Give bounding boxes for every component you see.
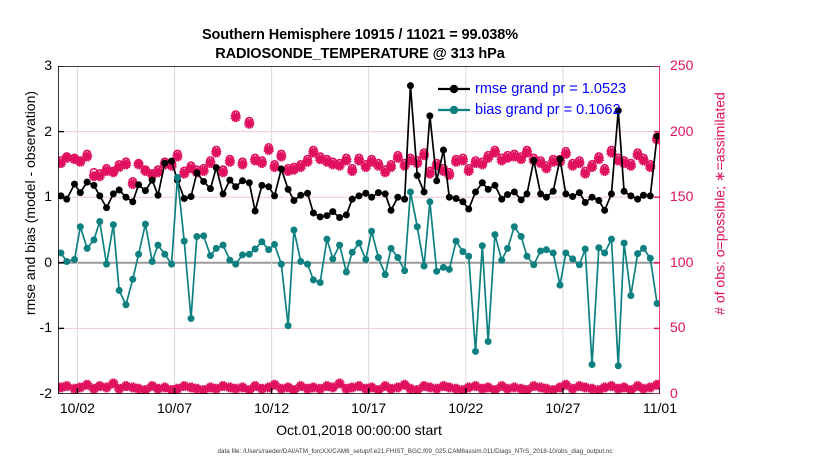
series-point [634,250,641,257]
series-point [71,181,78,188]
y-tick-label-right: 100 [670,254,716,270]
series-point [485,338,492,345]
series-point [421,263,428,270]
series-point [188,315,195,322]
series-point [530,157,537,164]
series-point [297,192,304,199]
series-point [142,221,149,228]
series-point [220,242,227,249]
series-point [601,207,608,214]
series-point [232,183,239,190]
x-tick-label: 10/02 [42,400,112,416]
series-point [336,242,343,249]
obs-assimilated-marker [588,163,596,171]
series-point [446,194,453,201]
series-point [394,194,401,201]
series-point [356,240,363,247]
series-point [181,195,188,202]
series-point [265,246,272,253]
obs-assimilated-marker [134,160,142,168]
series-point [271,192,278,199]
series-point [498,257,505,264]
series-point [627,292,634,299]
series-point [135,181,142,188]
obs-assimilated-marker [238,160,246,168]
series-point [465,206,472,213]
x-axis-label: Oct.01,2018 00:00:00 start [58,422,660,438]
legend-item-bias[interactable]: bias grand pr = 0.1062 [437,99,626,120]
obs-assimilated-marker [601,167,609,175]
series-point [407,82,414,89]
obs-assimilated-marker [653,381,660,389]
series-point [654,300,660,307]
series-point [174,174,181,181]
obs-assimilated-marker [335,379,343,387]
series-point [343,268,350,275]
series-point [265,183,272,190]
series-point [63,196,70,203]
obs-assimilated-marker [245,120,253,128]
y-tick-label-left: 0 [12,254,52,270]
y-tick-label-right: 50 [670,319,716,335]
x-tick-label: 11/01 [625,400,695,416]
series-point [479,179,486,186]
series-point [647,255,654,262]
series-point [401,267,408,274]
series-point [576,189,583,196]
series-point [63,258,70,265]
series-point [77,189,84,196]
series-point [200,232,207,239]
series-point [329,255,336,262]
series-point [285,322,292,329]
series-point [161,251,168,258]
series-point [96,192,103,199]
series-point [310,276,317,283]
legend-label-rmse: rmse grand pr = 1.0523 [475,81,626,97]
series-point [640,245,647,252]
obs-assimilated-marker [76,158,84,166]
series-point [446,266,453,273]
series-point [472,188,479,195]
series-point [582,246,589,253]
obs-assimilated-marker [303,158,311,166]
series-point [84,179,91,186]
x-tick-label: 10/27 [528,400,598,416]
obs-assimilated-marker [562,150,570,158]
series-point [556,282,563,289]
series-point [543,246,550,253]
series-point [258,238,265,245]
series-point [304,261,311,268]
series-point [168,158,175,165]
series-point [200,178,207,185]
series-point [220,190,227,197]
series-point [414,223,421,230]
series-point [71,256,78,263]
obs-assimilated-marker [484,154,492,162]
series-point [278,261,285,268]
series-point [627,192,634,199]
series-point [129,276,136,283]
series-point [440,146,447,153]
series-point [479,242,486,249]
series-point [382,271,389,278]
series-point [491,182,498,189]
series-point [323,236,330,243]
series-point [304,190,311,197]
series-point [407,188,414,195]
series-point [465,253,472,260]
series-point [523,190,530,197]
series-point [252,246,259,253]
obs-assimilated-marker [63,382,71,390]
legend-item-rmse[interactable]: rmse grand pr = 1.0523 [437,78,626,99]
x-tick-label: 10/12 [237,400,307,416]
obs-assimilated-marker [212,148,220,156]
series-point [640,192,647,199]
series-point [433,177,440,184]
series-point [116,186,123,193]
series-point [382,190,389,197]
series-point [459,198,466,205]
series-point [181,238,188,245]
series-point [310,209,317,216]
series-point [608,190,615,197]
obs-assimilated-marker [232,113,240,121]
series-point [621,240,628,247]
obs-assimilated-marker [270,163,278,171]
obs-assimilated-marker [219,168,227,176]
obs-assimilated-marker [342,156,350,164]
y-tick-label-left: 1 [12,188,52,204]
series-point [239,177,246,184]
data-file-footer: data file: /Users/raeder/DAI/ATM_forcXX/… [0,448,830,455]
series-point [556,156,563,163]
series-point [232,261,239,268]
series-point [414,172,421,179]
series-point [317,213,324,220]
chart-page: Southern Hemisphere 10915 / 11021 = 99.0… [0,0,830,470]
obs-assimilated-marker [265,146,273,154]
obs-assimilated-marker [83,152,91,160]
series-point [595,197,602,204]
legend-label-bias: bias grand pr = 0.1062 [475,102,621,118]
series-point [343,211,350,218]
series-point [647,192,654,199]
series-point [615,362,622,369]
series-point [368,194,375,201]
obs-assimilated-marker [387,163,395,171]
series-point [193,169,200,176]
x-tick-label: 10/07 [140,400,210,416]
x-tick-label: 10/22 [431,400,501,416]
series-point [453,195,460,202]
series-point [453,238,460,245]
series-point [90,182,97,189]
series-point [582,199,589,206]
series-point [155,242,162,249]
series-point [569,193,576,200]
obs-assimilated-marker [575,159,583,167]
series-point [459,248,466,255]
series-point [530,261,537,268]
obs-assimilated-marker [394,154,402,162]
series-point [103,204,110,211]
series-point [226,177,233,184]
series-point [122,301,129,308]
legend-swatch-bias-icon [437,102,471,118]
series-point [589,361,596,368]
series-point [77,223,84,230]
series-point [226,257,233,264]
series-point [634,196,641,203]
series-point [278,165,285,172]
y-tick-label-left: 3 [12,57,52,73]
series-point [401,196,408,203]
series-point [349,249,356,256]
series-point [129,198,136,205]
obs-assimilated-marker [226,158,234,166]
y-tick-label-left: -1 [12,319,52,335]
series-point [246,251,253,258]
series-point [246,179,253,186]
series-point [252,207,259,214]
series-point [362,256,369,263]
series-point [290,227,297,234]
series-point [504,245,511,252]
obs-assimilated-marker [199,167,207,175]
series-point [349,196,356,203]
y-tick-label-right: 200 [670,123,716,139]
series-point [116,287,123,294]
series-point [110,190,117,197]
series-point [155,192,162,199]
y-tick-label-right: 150 [670,188,716,204]
page-title: Southern Hemisphere 10915 / 11021 = 99.0… [0,26,720,64]
series-point [323,212,330,219]
series-point [523,253,530,260]
series-point [595,244,602,251]
obs-assimilated-marker [542,164,550,172]
series-point [149,258,156,265]
obs-assimilated-marker [96,172,104,180]
series-point [550,249,557,256]
series-point [161,160,168,167]
series-point [207,252,214,259]
series-point [394,254,401,261]
legend: rmse grand pr = 1.0523 bias grand pr = 0… [437,78,626,120]
obs-assimilated-marker [180,169,188,177]
series-point [258,182,265,189]
obs-assimilated-marker [459,156,467,164]
series-point [362,190,369,197]
obs-assimilated-marker [277,152,285,160]
obs-assimilated-marker [258,159,266,167]
series-point [90,236,97,243]
y-tick-label-right: 250 [670,57,716,73]
series-point [589,194,596,201]
series-point [562,190,569,197]
title-line-1: Southern Hemisphere 10915 / 11021 = 99.0… [0,26,720,45]
series-point [569,255,576,262]
obs-assimilated-marker [122,160,130,168]
series-point [543,194,550,201]
obs-markers [58,111,660,394]
series-point [271,241,278,248]
obs-assimilated-marker [154,168,162,176]
series-point [213,164,220,171]
series-point [149,177,156,184]
series-point [239,251,246,258]
series-point [472,348,479,355]
series-point [110,221,117,228]
obs-assimilated-marker [348,167,356,175]
obs-assimilated-marker [595,155,603,163]
series-point [426,198,433,205]
obs-assimilated-marker [491,148,499,156]
series-point [213,245,220,252]
series-point [142,187,149,194]
title-line-2: RADIOSONDE_TEMPERATURE @ 313 hPa [0,45,720,64]
series-point [498,196,505,203]
series-point [285,186,292,193]
series-point [576,261,583,268]
series-point [426,112,433,119]
legend-swatch-rmse-icon [437,81,471,97]
series-point [504,191,511,198]
series-point [421,188,428,195]
obs-assimilated-marker [335,162,343,170]
series-line [61,178,657,366]
series-point [518,233,525,240]
series-point [356,192,363,199]
series-point [550,188,557,195]
y-tick-label-left: 2 [12,123,52,139]
series-point [122,194,129,201]
obs-assimilated-marker [426,169,434,177]
series-point [96,218,103,225]
series-point [168,261,175,268]
series-point [608,236,615,243]
series-point [368,228,375,235]
series-point [207,185,214,192]
y-tick-label-right: 0 [670,385,716,401]
y-tick-label-left: -2 [12,385,52,401]
series-point [511,223,518,230]
series-bias [58,174,660,369]
series-point [297,258,304,265]
series-point [188,193,195,200]
obs-assimilated-marker [627,162,635,170]
series-point [485,186,492,193]
series-point [511,188,518,195]
obs-assimilated-marker [523,148,531,156]
series-point [193,233,200,240]
series-point [84,245,91,252]
series-point [601,249,608,256]
obs-assimilated-marker [297,163,305,171]
x-tick-label: 10/17 [334,400,404,416]
obs-assimilated-marker [465,167,473,175]
obs-assimilated-marker [581,169,589,177]
series-point [388,207,395,214]
series-point [621,188,628,195]
series-point [290,197,297,204]
series-point [375,189,382,196]
series-point [433,268,440,275]
series-point [375,254,382,261]
series-point [329,208,336,215]
series-point [388,245,395,252]
series-point [491,231,498,238]
series-point [336,214,343,221]
series-point [562,249,569,256]
series-point [518,196,525,203]
series-point [317,279,324,286]
series-point [537,247,544,254]
series-point [135,251,142,258]
series-point [103,261,110,268]
